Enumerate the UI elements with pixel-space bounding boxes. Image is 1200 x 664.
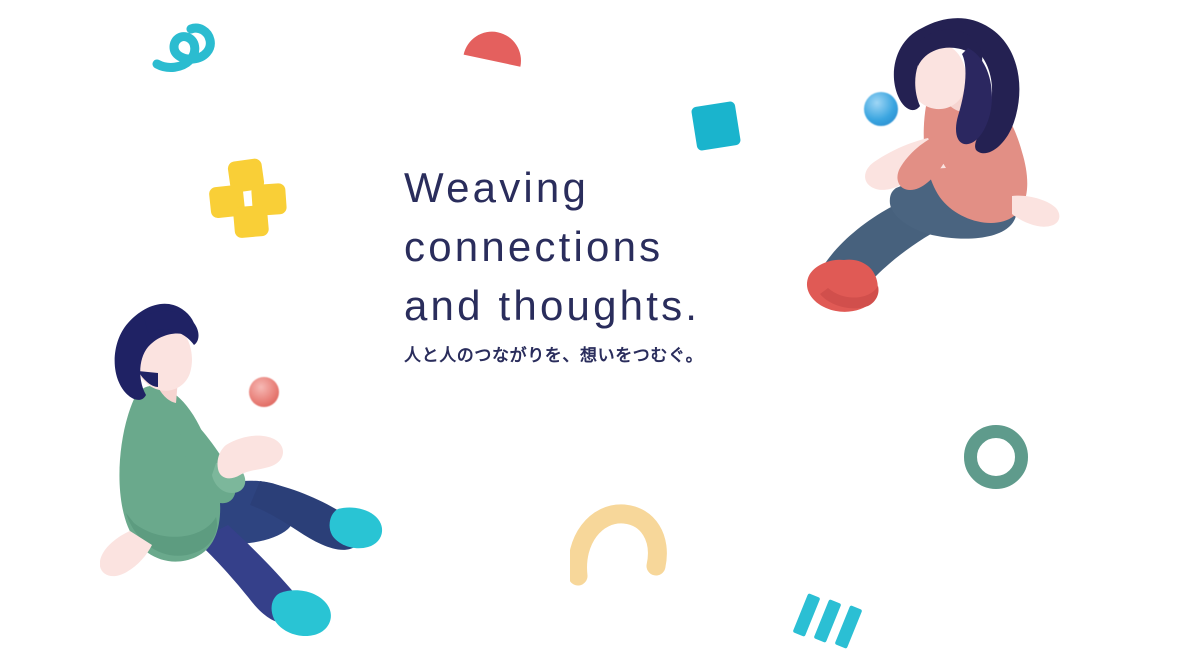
headline-line-2: connections [404, 217, 824, 276]
green-ring-icon [964, 425, 1028, 489]
illustration-woman [800, 10, 1080, 340]
headline-line-3: and thoughts. [404, 276, 824, 335]
yellow-arc-icon [570, 500, 668, 586]
red-half-disc-icon [464, 26, 527, 66]
yellow-tiles-icon [210, 160, 288, 238]
headline-line-1: Weaving [404, 158, 824, 217]
page-subtitle: 人と人のつながりを、想いをつむぐ。 [404, 341, 824, 366]
red-ball [249, 377, 279, 407]
hero-section: Weaving connections and thoughts. 人と人のつな… [0, 0, 1200, 664]
cyan-square-icon [691, 101, 741, 151]
hero-text-block: Weaving connections and thoughts. 人と人のつな… [404, 158, 824, 366]
page-title: Weaving connections and thoughts. [404, 158, 824, 335]
cyan-stripes-icon [798, 592, 868, 648]
teal-swirl-icon [152, 18, 224, 82]
illustration-man [100, 295, 410, 645]
blue-ball [864, 92, 898, 126]
